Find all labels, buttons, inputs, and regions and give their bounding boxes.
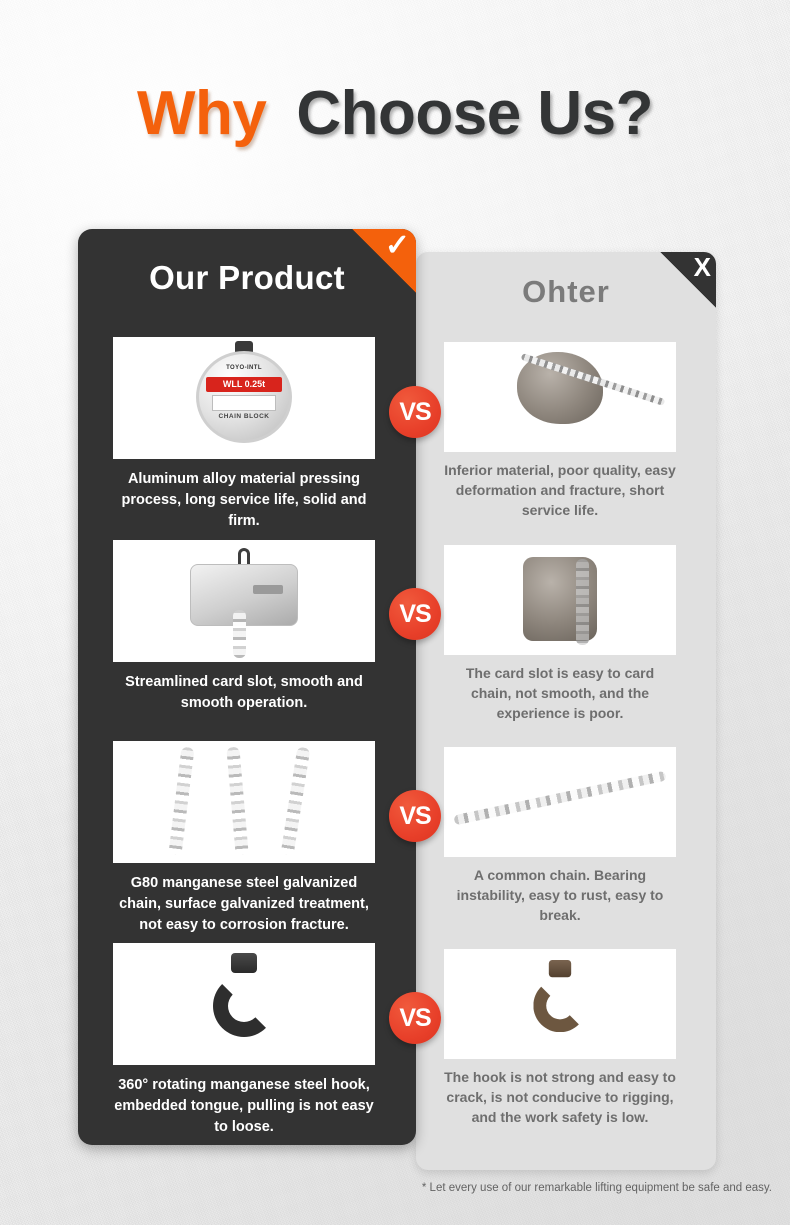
our-row-4: 360° rotating manganese steel hook, embe… <box>113 943 375 1138</box>
footnote: * Let every use of our remarkable liftin… <box>0 1182 772 1194</box>
steel-hook-shape <box>204 953 284 1053</box>
black-steel-hook-photo <box>113 943 375 1065</box>
our-caption-3: G80 manganese steel galvanized chain, su… <box>113 873 375 936</box>
our-caption-2: Streamlined card slot, smooth and smooth… <box>113 672 375 714</box>
common-chain-photo <box>444 747 676 857</box>
gearbox-chain <box>233 610 246 658</box>
title-highlight-word: Why <box>137 79 266 148</box>
rusty-hook-curve <box>533 979 586 1032</box>
product-wll-label: WLL 0.25t <box>206 377 282 392</box>
corroded-block-photo <box>444 342 676 452</box>
rusty-hook-photo <box>444 949 676 1059</box>
chain-strand-1 <box>168 747 194 856</box>
hook-eye <box>231 953 257 973</box>
vs-badge-3: VS <box>389 790 441 842</box>
our-row-1: TOYO-INTL WLL 0.25t CHAIN BLOCK Aluminum… <box>113 337 375 532</box>
chain-strand-3 <box>281 747 311 856</box>
common-chain-strand <box>453 771 666 826</box>
check-icon-glyph: ✓ <box>385 231 410 261</box>
product-brand-text: TOYO-INTL <box>226 365 262 371</box>
other-panel-heading: Ohter <box>416 274 716 310</box>
other-caption-2: The card slot is easy to card chain, not… <box>444 664 676 724</box>
chain-strand-2 <box>226 747 248 856</box>
our-product-heading: Our Product <box>78 259 416 297</box>
card-slot <box>253 585 283 594</box>
other-caption-3: A common chain. Bearing instability, eas… <box>444 866 676 926</box>
rusty-chain <box>576 559 589 645</box>
our-row-3: G80 manganese steel galvanized chain, su… <box>113 741 375 936</box>
vs-badge-2: VS <box>389 588 441 640</box>
other-row-2: The card slot is easy to card chain, not… <box>444 545 676 724</box>
our-caption-4: 360° rotating manganese steel hook, embe… <box>113 1075 375 1138</box>
other-row-1: Inferior material, poor quality, easy de… <box>444 342 676 521</box>
vs-badge-1: VS <box>389 386 441 438</box>
product-type-text: CHAIN BLOCK <box>219 413 270 420</box>
galvanized-chain-photo <box>113 741 375 863</box>
title-rest: Choose Us? <box>296 79 653 148</box>
other-row-3: A common chain. Bearing instability, eas… <box>444 747 676 926</box>
vs-badge-4: VS <box>389 992 441 1044</box>
other-row-4: The hook is not strong and easy to crack… <box>444 949 676 1128</box>
other-caption-4: The hook is not strong and easy to crack… <box>444 1068 676 1128</box>
rusty-hook-shape <box>526 960 595 1046</box>
gearbox-card-slot-photo <box>113 540 375 662</box>
product-spec-plate <box>212 395 276 411</box>
chain-block-product-photo: TOYO-INTL WLL 0.25t CHAIN BLOCK <box>113 337 375 459</box>
our-caption-1: Aluminum alloy material pressing process… <box>113 469 375 532</box>
our-row-2: Streamlined card slot, smooth and smooth… <box>113 540 375 714</box>
rusty-card-slot-photo <box>444 545 676 655</box>
rusty-hook-eye <box>549 960 571 977</box>
other-caption-1: Inferior material, poor quality, easy de… <box>444 461 676 521</box>
page-title: WhyChoose Us? <box>0 78 790 149</box>
hook-curve <box>213 975 275 1037</box>
